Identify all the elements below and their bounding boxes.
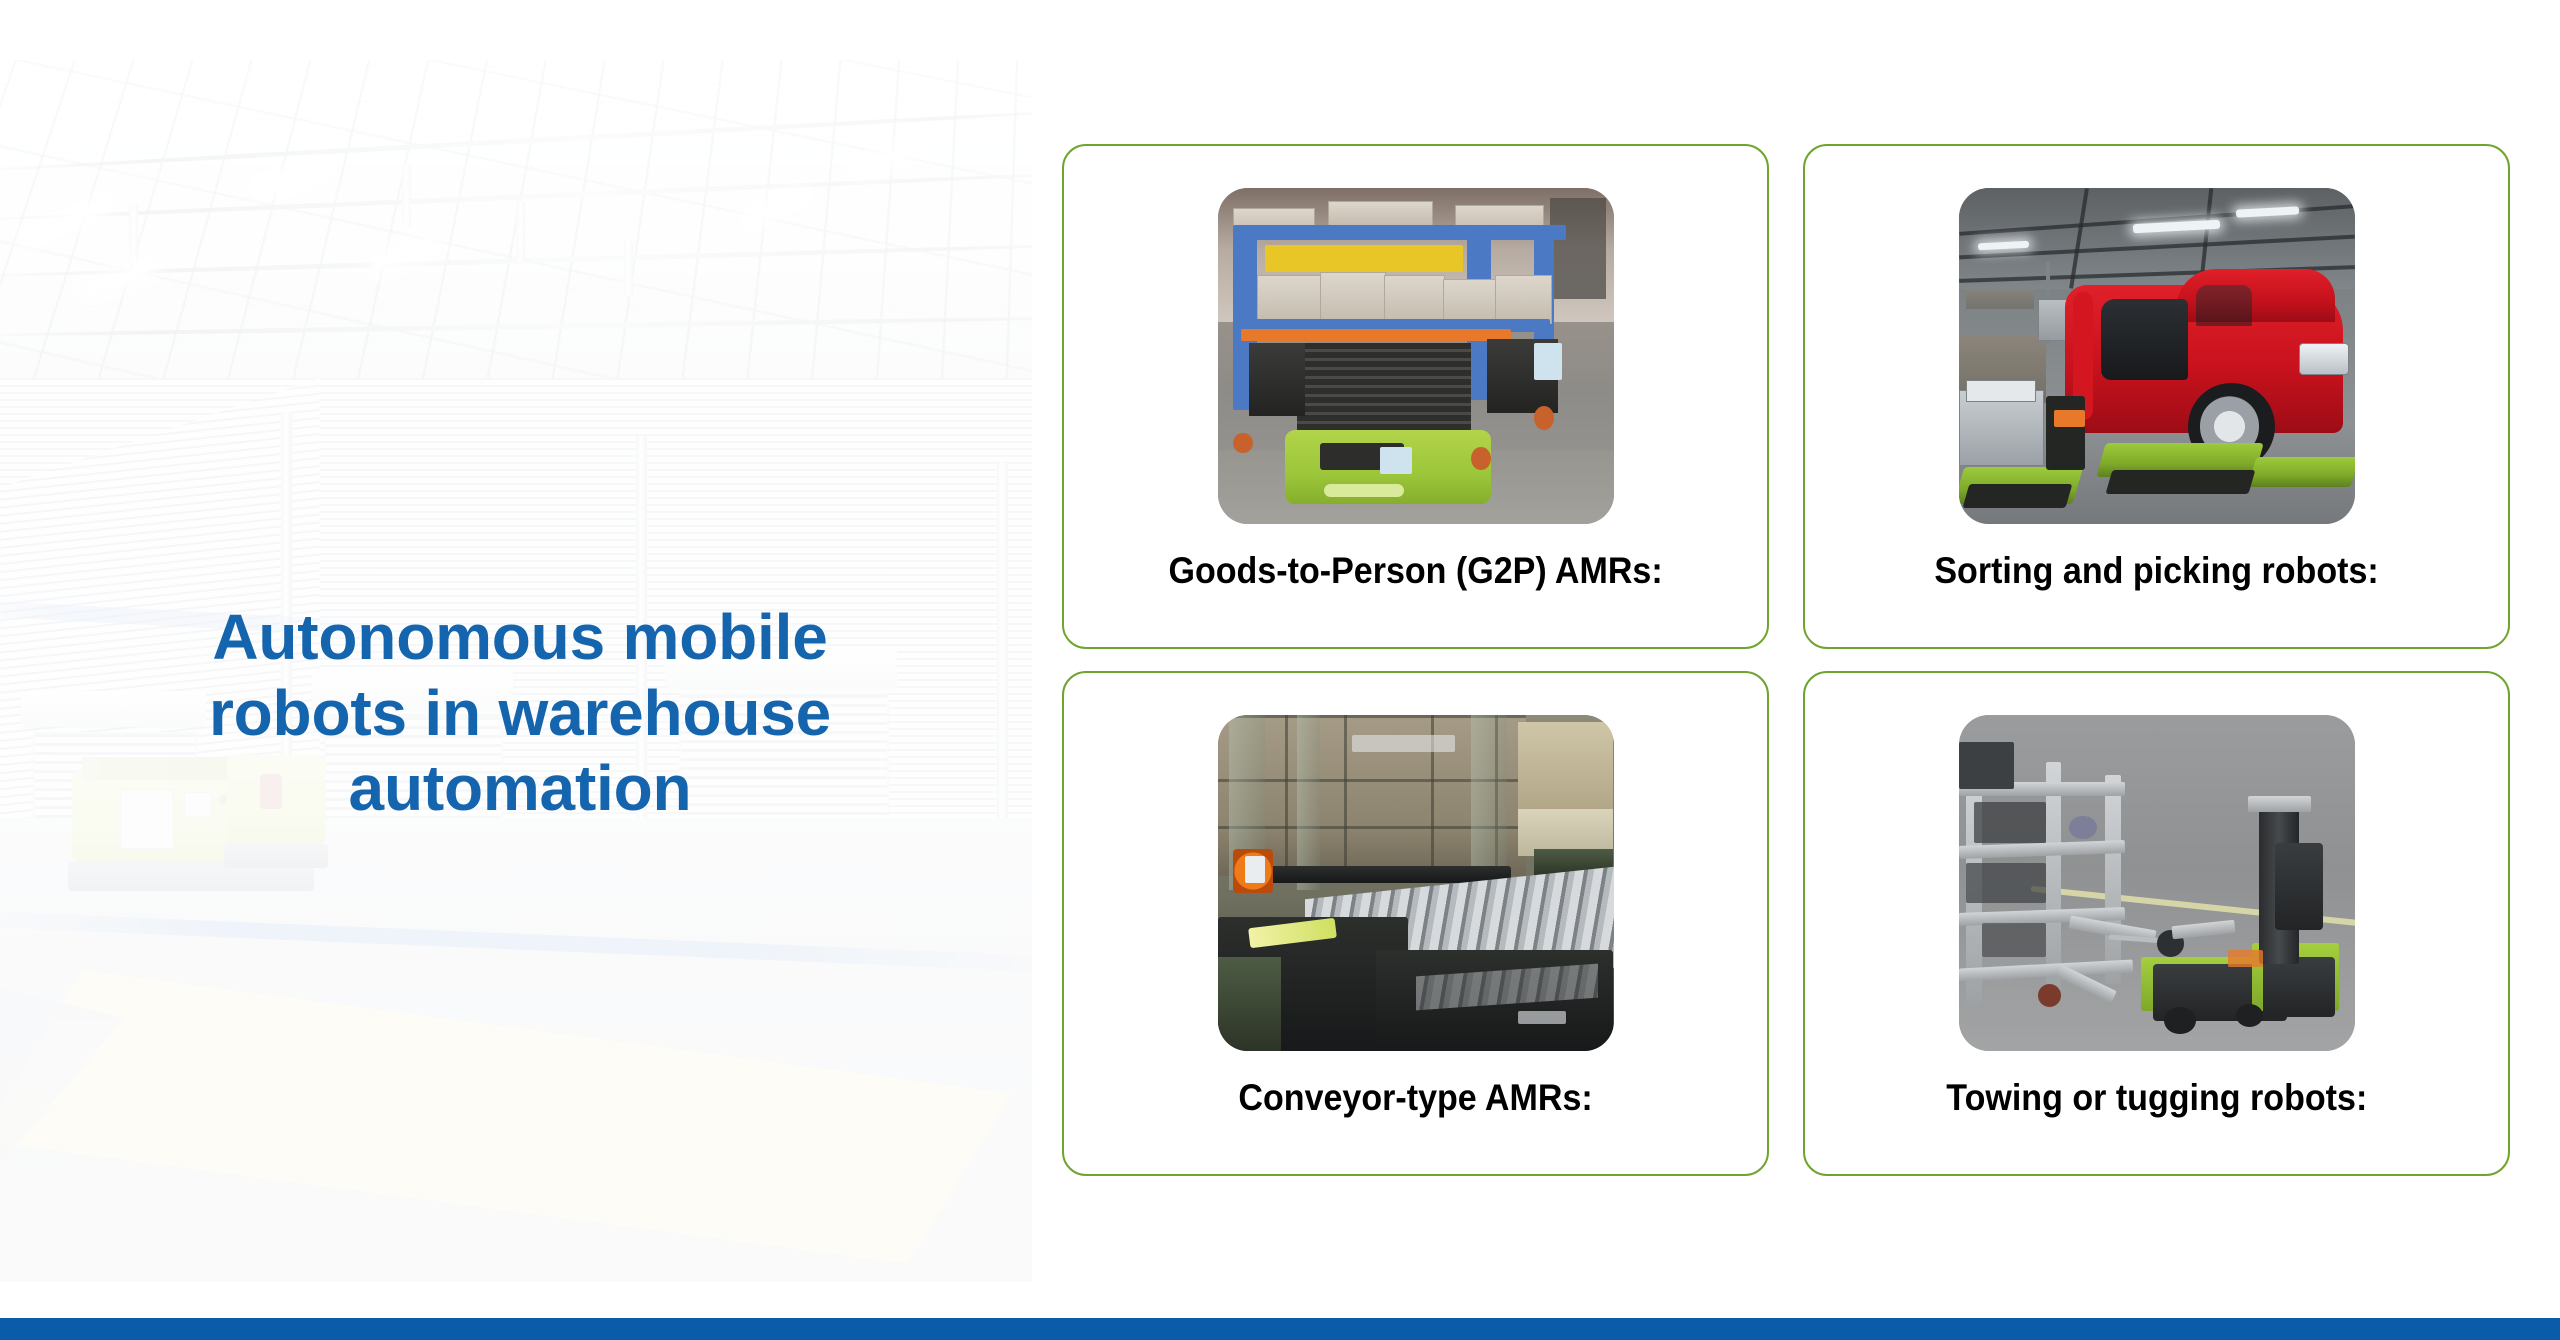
sorting-picking-robot-photo xyxy=(1959,188,2355,524)
ceiling-drop xyxy=(624,241,633,295)
card-goods-to-person-amrs[interactable]: Goods-to-Person (G2P) AMRs: xyxy=(1062,144,1769,649)
conveyor-amr-photo xyxy=(1218,715,1614,1051)
page-title: Autonomous mobile robots in warehouse au… xyxy=(20,600,1020,827)
title-container: Autonomous mobile robots in warehouse au… xyxy=(20,600,1020,827)
card-label: Towing or tugging robots: xyxy=(1946,1077,2367,1120)
card-towing-tugging-robots[interactable]: Towing or tugging robots: xyxy=(1803,671,2510,1176)
towing-robot-photo xyxy=(1959,715,2355,1051)
card-label: Goods-to-Person (G2P) AMRs: xyxy=(1168,550,1662,593)
robot-type-card-grid: Goods-to-Person (G2P) AMRs: xyxy=(1062,144,2510,1176)
ceiling-drop xyxy=(129,204,138,263)
bottom-accent-bar xyxy=(0,1318,2560,1340)
amr-base xyxy=(224,844,328,868)
g2p-amr-photo xyxy=(1218,188,1614,524)
slide-canvas: Autonomous mobile robots in warehouse au… xyxy=(0,0,2560,1340)
ceiling-drop xyxy=(402,164,411,228)
card-sorting-and-picking-robots[interactable]: Sorting and picking robots: xyxy=(1803,144,2510,649)
ceiling-drop xyxy=(516,201,525,262)
card-conveyor-type-amrs[interactable]: Conveyor-type AMRs: xyxy=(1062,671,1769,1176)
card-label: Conveyor-type AMRs: xyxy=(1238,1077,1592,1120)
card-label: Sorting and picking robots: xyxy=(1934,550,2378,593)
